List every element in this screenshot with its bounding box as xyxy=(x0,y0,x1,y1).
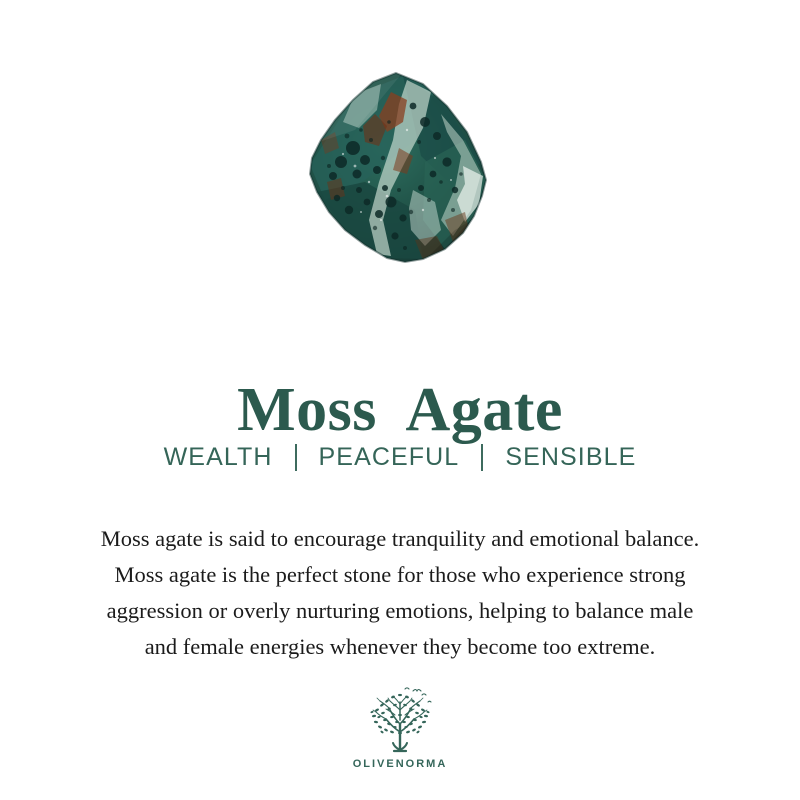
product-info-card: Moss Agate WEALTH | PEACEFUL | SENSIBLE … xyxy=(0,0,800,800)
keyword-list: WEALTH | PEACEFUL | SENSIBLE xyxy=(0,443,800,472)
keyword-separator: | xyxy=(295,444,297,471)
moss-agate-stone-illustration xyxy=(295,70,505,270)
description-line: Moss agate is the perfect stone for thos… xyxy=(30,557,770,593)
keyword-separator: | xyxy=(481,444,483,471)
description-line: aggression or overly nurturing emotions,… xyxy=(30,593,770,629)
olive-tree-icon xyxy=(361,684,439,756)
keyword-sensible: SENSIBLE xyxy=(505,443,636,472)
description-text: Moss agate is said to encourage tranquil… xyxy=(30,521,770,665)
description-line: Moss agate is said to encourage tranquil… xyxy=(30,521,770,557)
keyword-peaceful: PEACEFUL xyxy=(319,443,460,472)
keyword-wealth: WEALTH xyxy=(164,443,273,472)
stone-image xyxy=(0,70,800,280)
page-title: Moss Agate xyxy=(0,378,800,443)
brand-name: OLIVENORMA xyxy=(353,758,448,770)
brand-logo: OLIVENORMA xyxy=(0,684,800,770)
description-line: and female energies whenever they become… xyxy=(30,629,770,665)
